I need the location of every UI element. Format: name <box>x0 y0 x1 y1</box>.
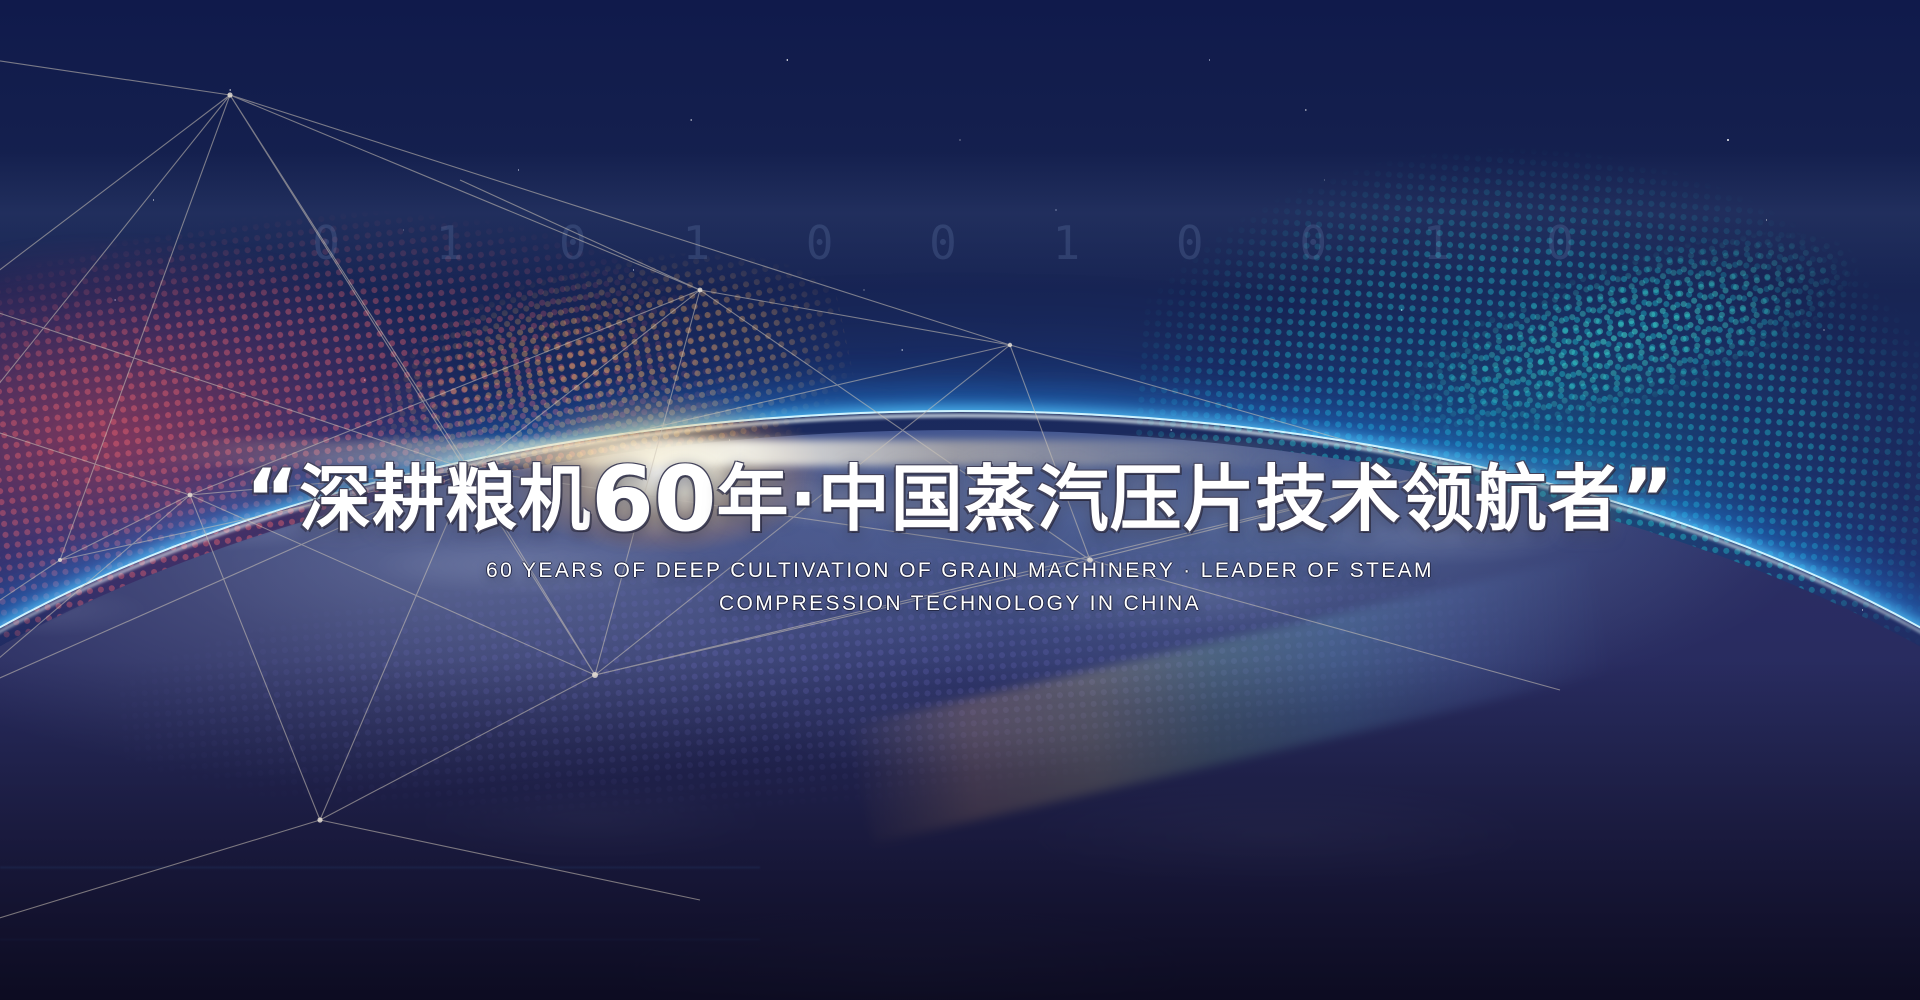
open-quote-mark: “ <box>246 452 300 545</box>
close-quote-mark: ” <box>1621 452 1675 545</box>
title-number-60: 60 <box>591 447 716 552</box>
banner-text-block: “深耕粮机60年·中国蒸汽压片技术领航者” 60 YEARS OF DEEP C… <box>0 455 1920 616</box>
banner-subtitle-line-1: 60 YEARS OF DEEP CULTIVATION OF GRAIN MA… <box>0 559 1920 583</box>
title-segment-one: 深耕粮机 <box>299 457 591 541</box>
banner-main-title: “深耕粮机60年·中国蒸汽压片技术领航者” <box>0 455 1920 545</box>
banner-subtitle-line-2: COMPRESSION TECHNOLOGY IN CHINA <box>0 592 1920 616</box>
title-segment-two: 年·中国蒸汽压片技术领航者 <box>716 457 1620 541</box>
hero-banner: 0 1 0 1 0 0 1 0 0 1 0 <box>0 0 1920 1000</box>
